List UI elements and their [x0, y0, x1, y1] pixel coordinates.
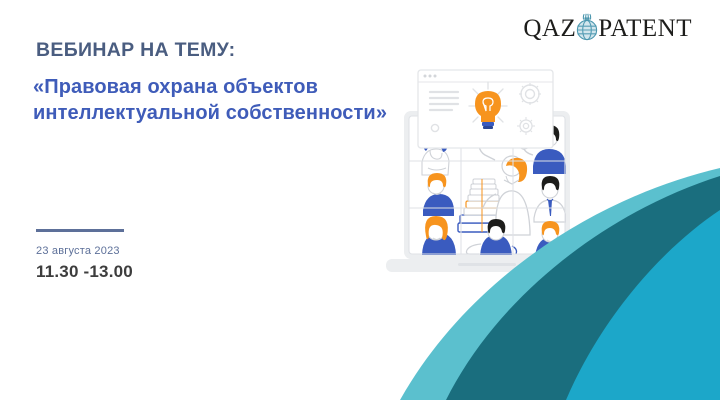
page-subtitle: «Правовая охрана объектов интеллектуальн…: [33, 74, 393, 127]
divider: [36, 229, 124, 232]
page-title: ВЕБИНАР НА ТЕМУ:: [36, 38, 235, 62]
webinar-slide: QAZ PATENT ВЕБИНАР НА ТЕМУ: «Правовая ох…: [0, 0, 720, 400]
event-time: 11.30 -13.00: [36, 262, 133, 282]
window-dot-icon: [429, 75, 432, 78]
event-date: 23 августа 2023: [36, 245, 120, 257]
globe-emblem-icon: [574, 13, 600, 43]
illustration-svg: [378, 58, 638, 290]
window-dot-icon: [424, 75, 427, 78]
window-dot-icon: [434, 75, 437, 78]
webinar-illustration: [378, 58, 638, 290]
laptop-base: [386, 259, 588, 272]
qazpatent-logo: QAZ PATENT: [523, 12, 692, 44]
logo-text-left: QAZ: [523, 16, 576, 41]
logo-text-right: PATENT: [598, 16, 692, 41]
popup-window: [418, 70, 553, 148]
